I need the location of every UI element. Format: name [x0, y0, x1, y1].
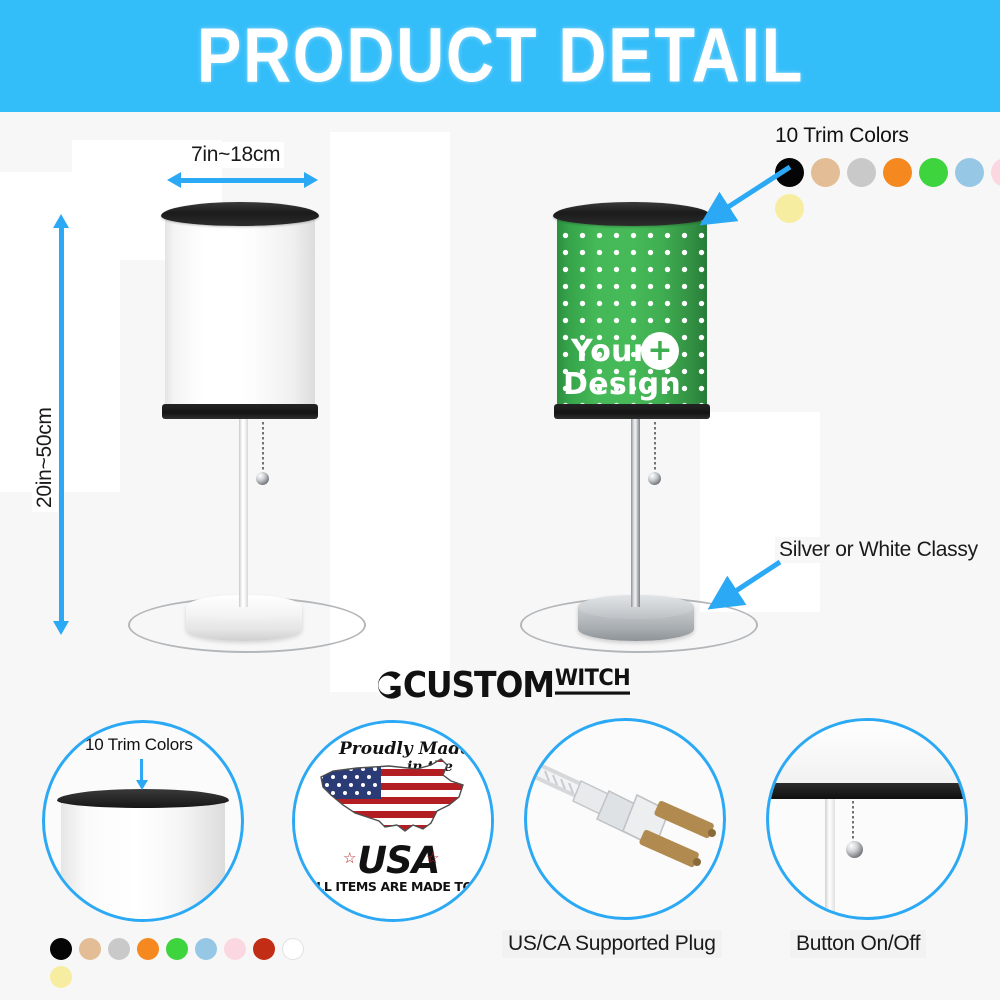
feature-pull-chain-ball[interactable]	[846, 841, 863, 858]
base-finish-callout-arrow	[700, 552, 790, 622]
swatch-green[interactable]	[166, 938, 188, 960]
trim-swatch-row-1	[775, 158, 1000, 187]
shade-trim-bottom	[162, 404, 318, 419]
swatch-dark-red[interactable]	[253, 938, 275, 960]
trim-swatch-row-2	[775, 194, 1000, 223]
bottom-swatch-row-1	[50, 938, 304, 960]
main-product-stage: 7in~18cm 20in~50cm	[0, 112, 1000, 710]
trim-colors-callout-arrow	[690, 157, 800, 232]
lamp-shade-green: Your + Design	[557, 210, 707, 414]
swatch-orange[interactable]	[137, 938, 159, 960]
header-banner: PRODUCT DETAIL	[0, 0, 1000, 112]
product-detail-page: PRODUCT DETAIL 7in~18cm 20in~50cm	[0, 0, 1000, 1000]
width-dimension-label: 7in~18cm	[187, 142, 284, 168]
lamp-pole-silver	[631, 417, 640, 607]
width-dimension-arrow	[180, 178, 305, 183]
shade-trim-top	[161, 202, 319, 226]
feature-circle-usa: Proudly Made in the	[292, 720, 494, 922]
usa-small-text: ALL ITEMS ARE MADE TO ORDER!	[307, 879, 494, 894]
swatch-green[interactable]	[919, 158, 948, 187]
pull-chain-ball[interactable]	[256, 472, 269, 485]
swatch-pink[interactable]	[991, 158, 1000, 187]
pull-chain[interactable]	[262, 422, 264, 475]
usa-star-right: ☆	[426, 849, 439, 867]
design-text-line1: Your	[571, 335, 648, 368]
swatch-white[interactable]	[282, 938, 304, 960]
pull-chain[interactable]	[654, 422, 656, 475]
shade-trim-bottom	[554, 404, 710, 419]
usa-badge: Proudly Made in the	[295, 723, 491, 919]
feature-switch-caption: Button On/Off	[790, 930, 926, 958]
swatch-light-blue[interactable]	[195, 938, 217, 960]
feature-trim-arrow	[140, 759, 143, 781]
logo-main-text: CUSTOM	[403, 666, 554, 702]
mini-shade-trim-bar	[766, 783, 968, 799]
swatch-gray[interactable]	[108, 938, 130, 960]
swatch-orange[interactable]	[883, 158, 912, 187]
feature-plug-caption: US/CA Supported Plug	[502, 930, 722, 958]
swatch-gray[interactable]	[847, 158, 876, 187]
feature-circle-trim: 10 Trim Colors	[42, 720, 244, 922]
swatch-tan[interactable]	[811, 158, 840, 187]
bottom-swatch-row-2	[50, 966, 304, 988]
mini-shade-surface	[61, 801, 225, 922]
bg-patch	[330, 132, 450, 692]
usa-star-left: ☆	[343, 849, 356, 867]
feature-trim-inner-label: 10 Trim Colors	[85, 735, 193, 755]
lamp-shade-white	[165, 210, 315, 414]
swatch-light-blue[interactable]	[955, 158, 984, 187]
add-design-plus-icon[interactable]: +	[641, 332, 679, 370]
mini-shade-bottom-surface	[769, 721, 965, 789]
feature-pull-chain[interactable]	[852, 801, 854, 845]
bottom-trim-swatches	[50, 938, 304, 988]
power-plug-icon	[527, 721, 723, 917]
brand-logo: CUSTOM WITCH	[0, 658, 1000, 710]
shade-surface	[165, 210, 315, 414]
trim-colors-group: 10 Trim Colors	[775, 124, 1000, 223]
height-dimension-arrow	[59, 227, 64, 622]
page-title: PRODUCT DETAIL	[196, 18, 803, 95]
design-text-line2: Design	[563, 368, 681, 401]
swatch-black[interactable]	[50, 938, 72, 960]
feature-highlights: 10 Trim Colors Proudly Made in the	[0, 710, 1000, 1000]
feature-circle-switch	[766, 718, 968, 920]
logo-sub-text: WITCH	[555, 667, 630, 694]
swatch-yellow[interactable]	[50, 966, 72, 988]
mini-shade-trim	[57, 789, 229, 808]
usa-map-flag-icon	[313, 755, 475, 843]
shade-trim-top	[553, 202, 711, 226]
trim-colors-title: 10 Trim Colors	[775, 124, 1000, 148]
base-finish-label: Silver or White Classy	[775, 537, 982, 563]
height-dimension-label: 20in~50cm	[32, 403, 58, 512]
feature-circle-plug	[524, 718, 726, 920]
logo-c-icon	[370, 668, 404, 702]
pull-chain-ball[interactable]	[648, 472, 661, 485]
swatch-pink[interactable]	[224, 938, 246, 960]
lamp-pole-white	[239, 417, 248, 607]
swatch-tan[interactable]	[79, 938, 101, 960]
mini-lamp-pole	[825, 799, 835, 917]
